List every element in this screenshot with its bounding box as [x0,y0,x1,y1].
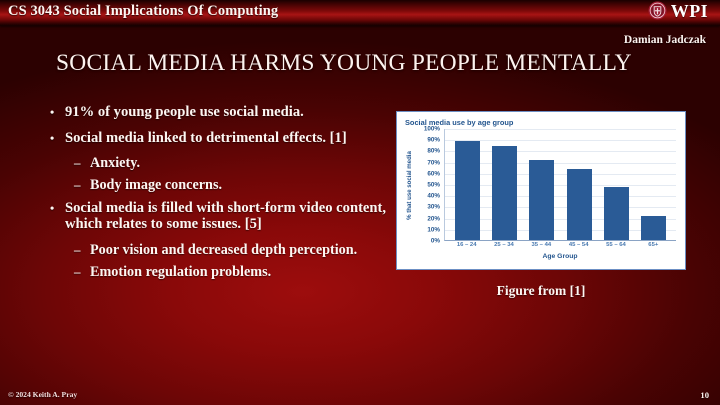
chart-y-tick: 40% [427,193,440,200]
wpi-seal-icon [648,1,667,20]
author-name: Damian Jadczak [624,34,706,46]
chart-y-tick: 20% [427,215,440,222]
bullet-marker-icon: • [50,104,65,120]
chart-bar [492,146,517,240]
chart-x-tick: 16 – 24 [450,242,484,248]
sub-bullet-text: Emotion regulation problems. [90,264,388,280]
chart-plot-area [444,129,676,241]
slide-title: SOCIAL MEDIA HARMS YOUNG PEOPLE MENTALLY [56,50,632,77]
bullet-item: • Social media is filled with short-form… [50,200,388,233]
chart-x-axis-ticks: 16 – 2425 – 3435 – 4445 – 5455 – 6465+ [444,242,676,248]
bullet-list: • 91% of young people use social media. … [50,104,388,286]
slide-number: 10 [700,390,709,400]
sub-bullet-text: Poor vision and decreased depth percepti… [90,242,388,258]
dash-marker-icon: – [74,155,90,171]
course-title: CS 3043 Social Implications Of Computing [8,3,278,20]
chart-bar [529,160,554,240]
presentation-slide: CS 3043 Social Implications Of Computing… [0,0,720,405]
chart-y-tick: 10% [427,226,440,233]
chart-y-tick: 60% [427,170,440,177]
bullet-item: • Social media linked to detrimental eff… [50,130,388,147]
bullet-text: 91% of young people use social media. [65,104,388,121]
wpi-wordmark: WPI [671,2,708,20]
sub-bullet-text: Anxiety. [90,155,388,171]
chart-y-tick: 0% [431,238,440,245]
sub-bullet-item: – Body image concerns. [74,177,388,193]
chart-x-tick: 65+ [636,242,670,248]
figure-caption: Figure from [1] [396,283,686,299]
chart-bar [641,216,666,240]
chart-y-axis-label-text: % that use social media [406,151,413,220]
chart-x-axis-label: Age Group [444,253,676,260]
chart-title: Social media use by age group [405,118,679,127]
chart-x-tick: 45 – 54 [562,242,596,248]
bullet-text: Social media is filled with short-form v… [65,200,388,233]
bullet-text: Social media linked to detrimental effec… [65,130,388,147]
sub-bullet-item: – Anxiety. [74,155,388,171]
sub-bullet-text: Body image concerns. [90,177,388,193]
sub-bullet-item: – Emotion regulation problems. [74,264,388,280]
chart-y-tick: 80% [427,148,440,155]
chart-x-tick: 55 – 64 [599,242,633,248]
chart-x-tick: 25 – 34 [487,242,521,248]
bullet-marker-icon: • [50,200,65,216]
dash-marker-icon: – [74,242,90,258]
chart-y-tick: 70% [427,159,440,166]
bullet-marker-icon: • [50,130,65,146]
chart-plot-wrapper: % that use social media 0%10%20%30%40%50… [402,129,680,265]
chart-y-axis-ticks: 0%10%20%30%40%50%60%70%80%90%100% [415,129,442,241]
chart-y-axis-label: % that use social media [402,129,416,241]
chart-y-tick: 100% [424,126,440,133]
chart-bars [445,129,676,240]
bullet-item: • 91% of young people use social media. [50,104,388,121]
dash-marker-icon: – [74,264,90,280]
header-band: CS 3043 Social Implications Of Computing [0,0,720,26]
chart-x-tick: 35 – 44 [524,242,558,248]
chart-y-tick: 90% [427,137,440,144]
wpi-logo: WPI [648,1,708,20]
dash-marker-icon: – [74,177,90,193]
chart-bar [455,141,480,240]
chart-y-tick: 50% [427,182,440,189]
chart-bar [604,187,629,240]
chart-y-tick: 30% [427,204,440,211]
chart-panel: Social media use by age group % that use… [396,111,686,270]
sub-bullet-item: – Poor vision and decreased depth percep… [74,242,388,258]
footer-copyright: © 2024 Keith A. Pray [8,390,77,399]
chart-bar [567,169,592,240]
